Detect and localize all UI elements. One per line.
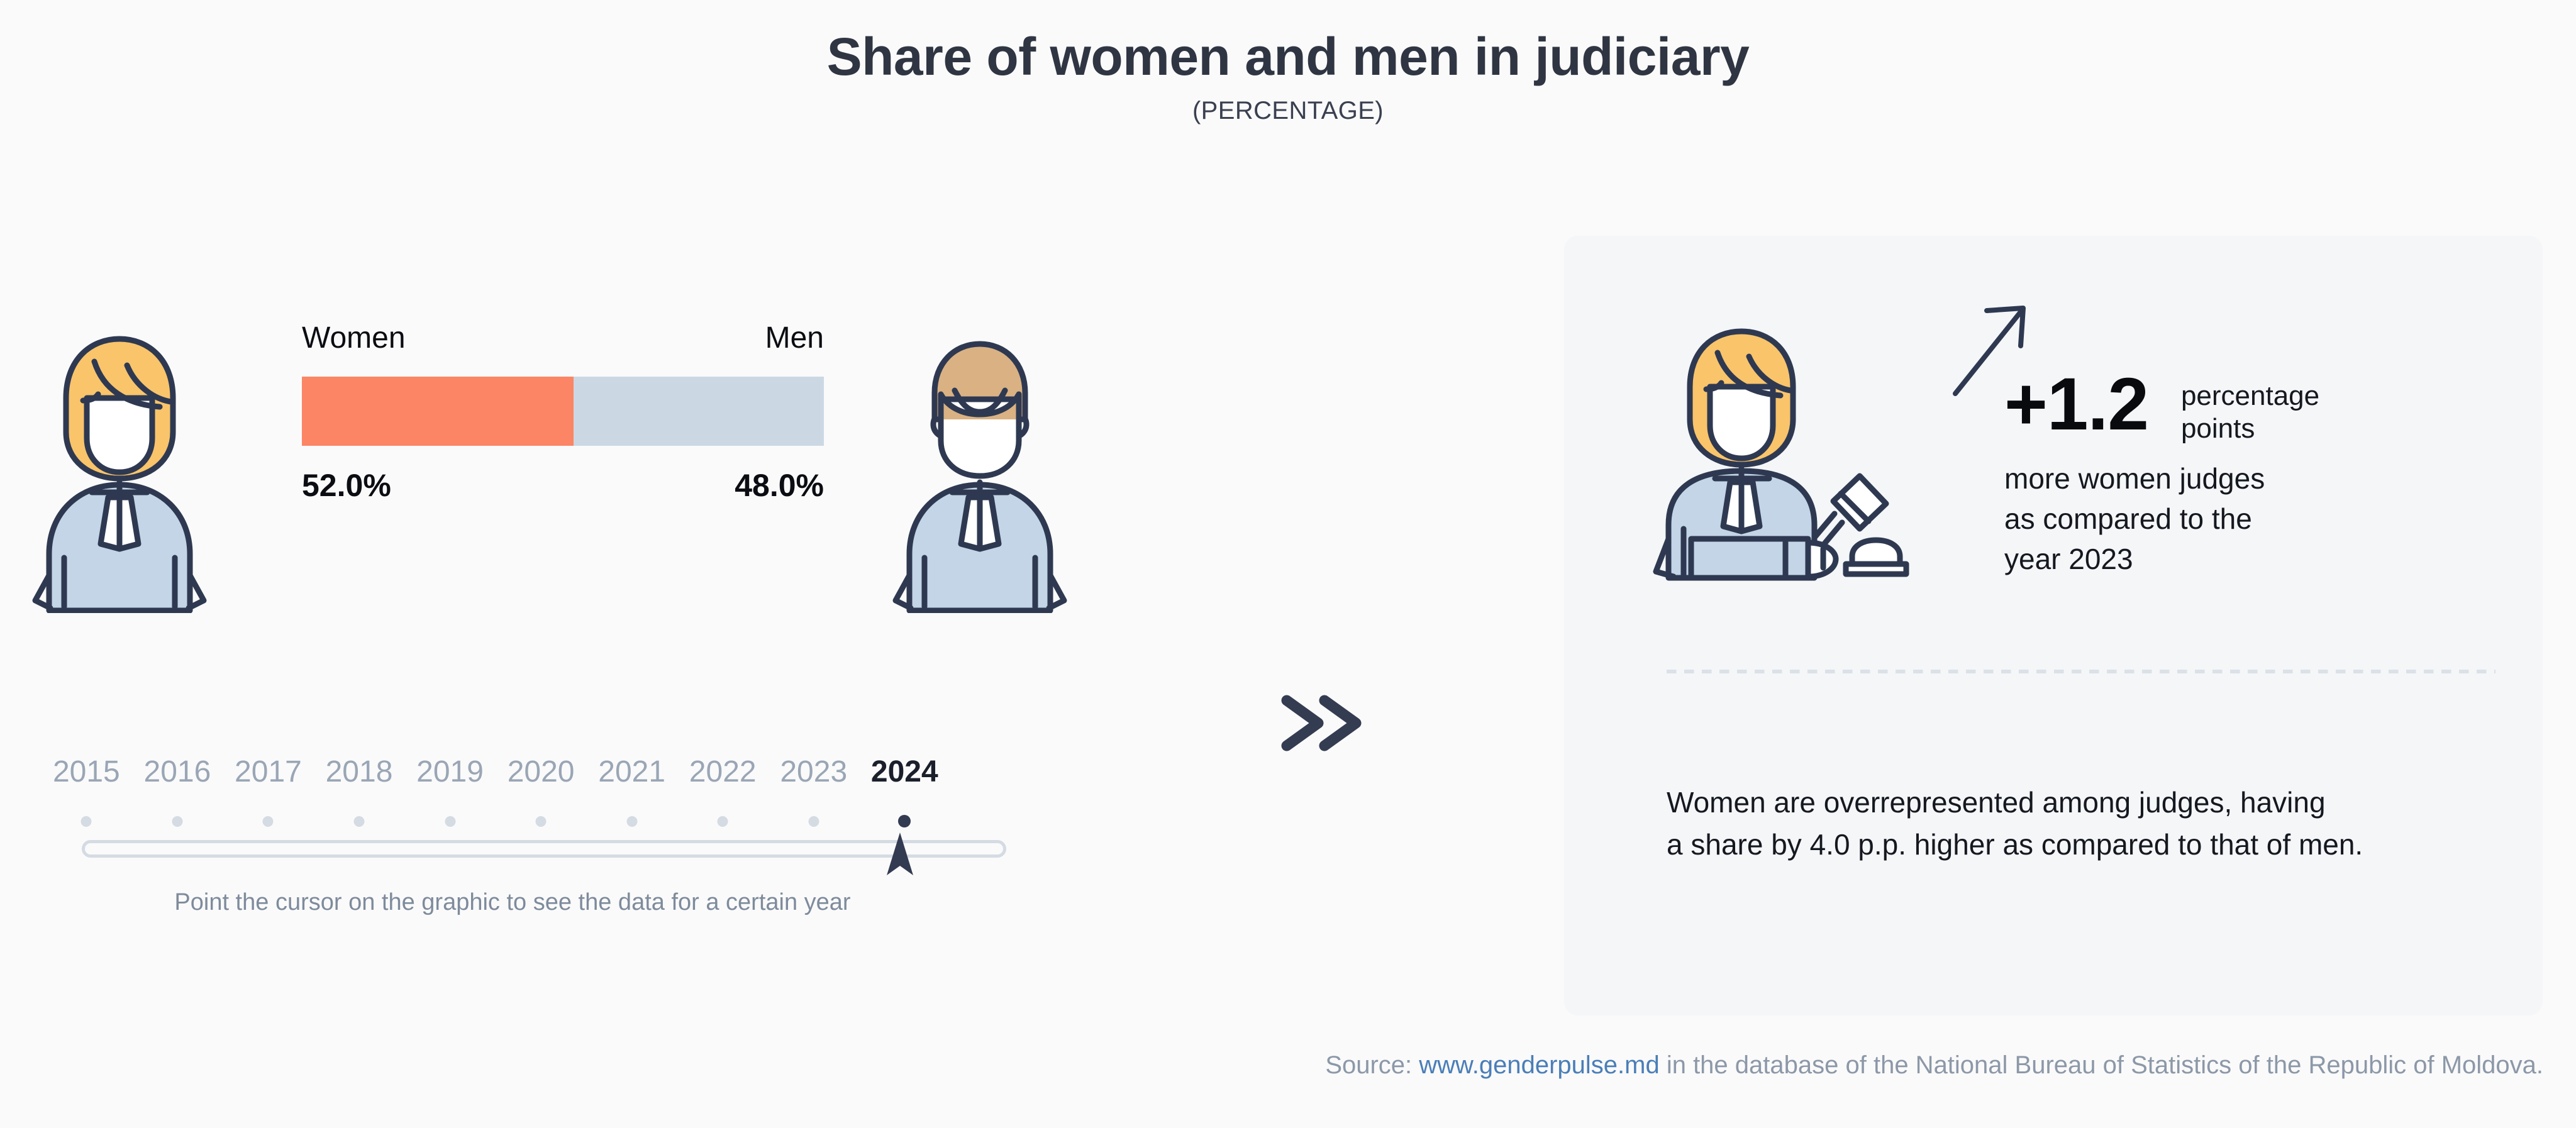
- source-prefix: Source:: [1325, 1051, 1419, 1079]
- kpi-description: more women judges as compared to the yea…: [2004, 459, 2265, 580]
- timeline-year-2023[interactable]: 2023: [780, 755, 847, 789]
- insight-card: +1.2 percentage points more women judges…: [1564, 236, 2543, 1015]
- bar-values: 52.0% 48.0%: [302, 467, 824, 504]
- timeline-dot-2019[interactable]: [445, 816, 455, 827]
- timeline-year-2016[interactable]: 2016: [144, 755, 211, 789]
- timeline-year-labels: 2015201620172018201920202021202220232024: [82, 755, 1006, 799]
- page-title: Share of women and men in judiciary: [0, 30, 2576, 83]
- source-suffix: in the database of the National Bureau o…: [1660, 1051, 2543, 1079]
- share-bar: Women Men 52.0% 48.0%: [302, 321, 824, 504]
- kpi-unit: percentage points: [2181, 380, 2319, 445]
- timeline-year-2018[interactable]: 2018: [326, 755, 393, 789]
- page-subtitle: (PERCENTAGE): [0, 97, 2576, 125]
- chart-panel: Women Men 52.0% 48.0%: [0, 220, 1560, 1006]
- timeline-dot-2020[interactable]: [536, 816, 547, 827]
- bar-value-women: 52.0%: [302, 467, 391, 504]
- timeline-dot-2023[interactable]: [808, 816, 819, 827]
- timeline-dot-2015[interactable]: [81, 816, 92, 827]
- kpi-row: +1.2 percentage points: [2004, 371, 2319, 445]
- bar-legend: Women Men: [302, 321, 824, 355]
- source-line: Source: www.genderpulse.md in the databa…: [1325, 1051, 2543, 1080]
- source-link[interactable]: www.genderpulse.md: [1419, 1051, 1659, 1079]
- bar-segment-men[interactable]: [574, 377, 824, 446]
- timeline-dot-2016[interactable]: [172, 816, 182, 827]
- timeline-rail[interactable]: [82, 836, 1006, 861]
- timeline-dot-2021[interactable]: [626, 816, 637, 827]
- kpi-value: +1.2: [2004, 371, 2148, 438]
- timeline-year-2017[interactable]: 2017: [235, 755, 302, 789]
- timeline-year-2021[interactable]: 2021: [598, 755, 665, 789]
- year-timeline[interactable]: 2015201620172018201920202021202220232024…: [82, 755, 1006, 916]
- timeline-dot-2018[interactable]: [354, 816, 365, 827]
- card-divider: [1667, 670, 2495, 673]
- woman-judge-icon: [25, 324, 214, 613]
- page-header: Share of women and men in judiciary (PER…: [0, 0, 2576, 125]
- timeline-dot-2017[interactable]: [263, 816, 274, 827]
- timeline-dot-2022[interactable]: [718, 816, 728, 827]
- bar-segment-women[interactable]: [302, 377, 574, 446]
- double-chevron-right-icon: [1270, 685, 1371, 761]
- bar-legend-men: Men: [765, 321, 824, 355]
- timeline-dots: [82, 812, 1006, 835]
- timeline-year-2022[interactable]: 2022: [689, 755, 757, 789]
- card-note: Women are overrepresented among judges, …: [1667, 782, 2363, 866]
- timeline-dot-2024[interactable]: [898, 815, 911, 827]
- bar-value-men: 48.0%: [735, 467, 824, 504]
- timeline-year-2015[interactable]: 2015: [53, 755, 120, 789]
- man-judge-icon: [885, 324, 1074, 613]
- timeline-year-2019[interactable]: 2019: [416, 755, 484, 789]
- timeline-year-2024[interactable]: 2024: [871, 755, 938, 789]
- timeline-year-2020[interactable]: 2020: [508, 755, 575, 789]
- timeline-hint: Point the cursor on the graphic to see t…: [82, 889, 943, 916]
- timeline-rail-track[interactable]: [82, 840, 1006, 858]
- bar-track[interactable]: [302, 377, 824, 446]
- woman-judge-with-gavel-icon: [1652, 318, 1935, 582]
- bar-legend-women: Women: [302, 321, 406, 355]
- timeline-cursor-pointer[interactable]: [885, 831, 914, 878]
